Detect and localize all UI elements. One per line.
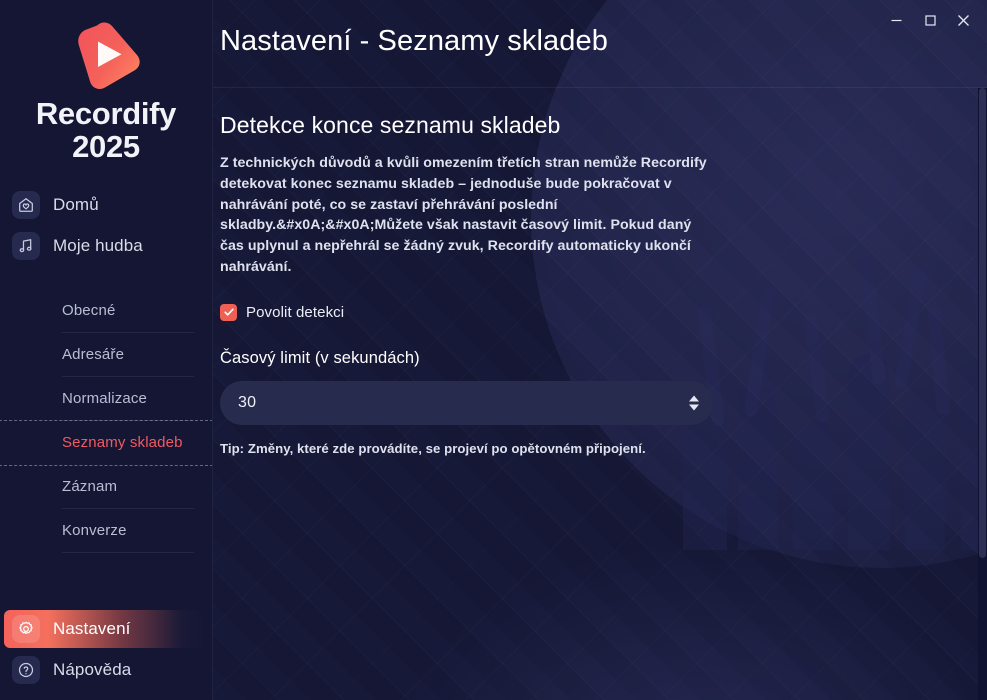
vertical-scrollbar[interactable] (978, 88, 987, 700)
timeout-input-value: 30 (238, 394, 256, 412)
maximize-icon[interactable] (913, 8, 947, 32)
main-panel: Nastavení - Seznamy skladeb Detekce konc… (213, 0, 987, 700)
sidebar-item-home[interactable]: Domů (0, 186, 204, 224)
brand-block: Recordify 2025 (0, 0, 212, 164)
spinner-down-icon[interactable] (689, 404, 699, 410)
timeout-field-label: Časový limit (v sekundách) (220, 349, 977, 368)
brand-name-line1: Recordify (36, 98, 176, 131)
submenu-item-seznamy-skladeb[interactable]: Seznamy skladeb (0, 421, 212, 465)
titlebar: Nastavení - Seznamy skladeb (213, 0, 987, 88)
submenu-item-label: Normalizace (62, 390, 147, 407)
home-heart-icon (12, 191, 40, 219)
submenu-item-label: Seznamy skladeb (62, 434, 183, 451)
sidebar-item-label: Nastavení (53, 619, 130, 639)
close-icon[interactable] (947, 8, 979, 32)
spinner-up-icon[interactable] (689, 395, 699, 401)
brand-name: Recordify 2025 (36, 98, 176, 164)
scrollbar-thumb[interactable] (979, 88, 986, 558)
gear-icon (12, 615, 40, 643)
timeout-number-input[interactable]: 30 (220, 381, 713, 425)
music-note-icon (12, 232, 40, 260)
submenu-item-normalizace[interactable]: Normalizace (62, 377, 194, 421)
submenu-item-label: Adresáře (62, 346, 124, 363)
question-circle-icon (12, 656, 40, 684)
sidebar-item-help[interactable]: Nápověda (0, 651, 204, 689)
sidebar-item-label: Nápověda (53, 660, 131, 680)
background-bottom-glow (393, 540, 987, 700)
submenu-item-label: Záznam (62, 478, 117, 495)
section-description: Z technických důvodů a kvůli omezením tř… (220, 153, 710, 278)
submenu-item-obecne[interactable]: Obecné (62, 289, 194, 333)
settings-content: Detekce konce seznamu skladeb Z technick… (213, 88, 987, 456)
sidebar-item-label: Moje hudba (53, 236, 143, 256)
enable-detection-checkbox[interactable] (220, 304, 237, 321)
submenu-item-label: Obecné (62, 302, 115, 319)
app-window: Recordify 2025 Domů (0, 0, 987, 700)
window-controls (879, 8, 979, 32)
settings-submenu: Obecné Adresáře Normalizace Seznamy skla… (0, 289, 212, 553)
sidebar-item-settings[interactable]: Nastavení (4, 610, 206, 648)
sidebar-top-nav: Domů Moje hudba (0, 186, 212, 265)
submenu-item-zaznam[interactable]: Záznam (62, 465, 194, 509)
submenu-item-label: Konverze (62, 522, 127, 539)
enable-detection-checkbox-row[interactable]: Povolit detekci (220, 304, 344, 321)
minimize-icon[interactable] (879, 8, 913, 32)
tip-text: Tip: Změny, které zde provádíte, se proj… (220, 441, 977, 456)
play-logo-icon (67, 18, 145, 90)
submenu-item-konverze[interactable]: Konverze (62, 509, 194, 553)
sidebar-item-label: Domů (53, 195, 99, 215)
page-title: Nastavení - Seznamy skladeb (220, 25, 608, 58)
number-spinner[interactable] (689, 395, 699, 410)
sidebar-item-my-music[interactable]: Moje hudba (0, 227, 204, 265)
brand-name-line2: 2025 (36, 131, 176, 164)
sidebar-bottom-nav: Nastavení Nápověda (0, 607, 212, 692)
sidebar: Recordify 2025 Domů (0, 0, 213, 700)
submenu-item-adresare[interactable]: Adresáře (62, 333, 194, 377)
enable-detection-label: Povolit detekci (246, 304, 344, 321)
section-title: Detekce konce seznamu skladeb (220, 112, 977, 139)
